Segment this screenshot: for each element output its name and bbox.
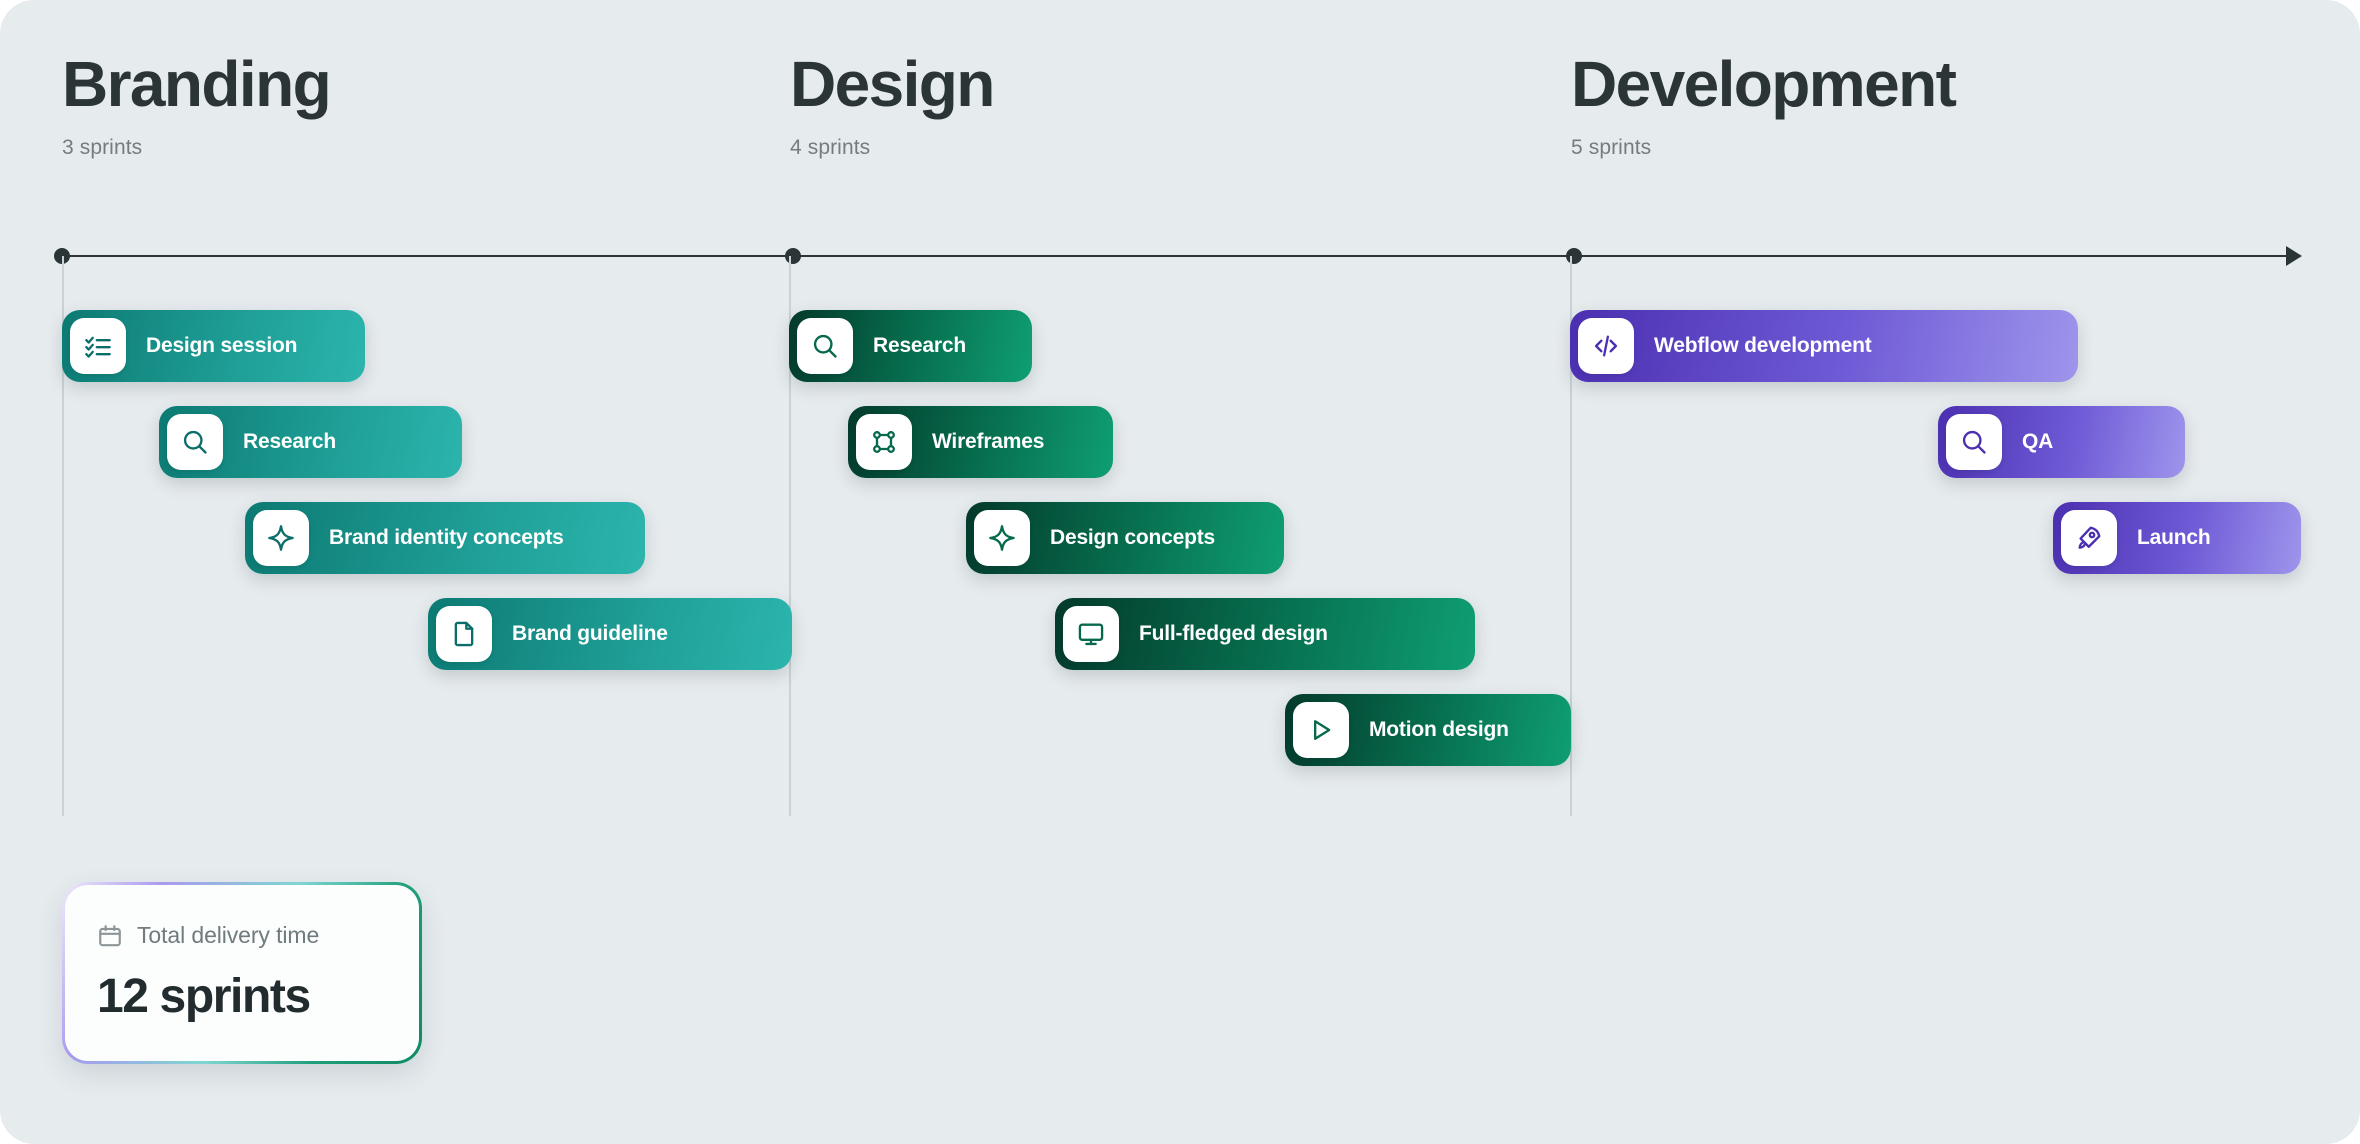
monitor-icon [1063,606,1119,662]
sparkle-icon [253,510,309,566]
rocket-icon [2061,510,2117,566]
timeline-canvas: Branding 3 sprints Design 4 sprints Deve… [0,0,2360,1144]
total-delivery-label: Total delivery time [137,922,319,949]
task-label: Motion design [1369,718,1509,742]
task-label: Brand guideline [512,622,668,646]
task-bar-full-fledged-design[interactable]: Full-fledged design [1055,598,1475,670]
task-label: Webflow development [1654,334,1872,358]
total-delivery-header: Total delivery time [97,922,387,949]
task-label: Research [243,430,336,454]
task-label: Research [873,334,966,358]
timeline-arrow-icon [2286,246,2302,266]
task-bar-branding-research[interactable]: Research [159,406,462,478]
phase-title-branding: Branding [62,52,330,116]
task-bar-design-session[interactable]: Design session [62,310,365,382]
task-bar-qa[interactable]: QA [1938,406,2185,478]
wireframe-icon [856,414,912,470]
task-bar-design-research[interactable]: Research [789,310,1032,382]
task-label: Design concepts [1050,526,1215,550]
document-icon [436,606,492,662]
sparkle-icon [974,510,1030,566]
phase-header-development: Development 5 sprints [1571,52,1955,160]
task-bar-design-concepts[interactable]: Design concepts [966,502,1284,574]
task-bar-webflow-development[interactable]: Webflow development [1570,310,2078,382]
play-icon [1293,702,1349,758]
calendar-icon [97,923,123,949]
code-icon [1578,318,1634,374]
task-label: Design session [146,334,297,358]
task-bar-brand-guideline[interactable]: Brand guideline [428,598,792,670]
total-delivery-card-inner: Total delivery time 12 sprints [65,885,419,1061]
task-bar-launch[interactable]: Launch [2053,502,2301,574]
timeline-axis [60,255,2300,257]
task-bar-wireframes[interactable]: Wireframes [848,406,1113,478]
search-icon [1946,414,2002,470]
task-label: QA [2022,430,2053,454]
phase-sprints-branding: 3 sprints [62,136,330,160]
timeline-marker-design [785,248,801,264]
task-label: Full-fledged design [1139,622,1328,646]
phase-title-design: Design [790,52,994,116]
task-label: Launch [2137,526,2210,550]
phase-header-design: Design 4 sprints [790,52,994,160]
total-delivery-card: Total delivery time 12 sprints [62,882,422,1064]
total-delivery-value: 12 sprints [97,969,387,1024]
task-label: Wireframes [932,430,1044,454]
task-label: Brand identity concepts [329,526,564,550]
task-bar-brand-identity-concepts[interactable]: Brand identity concepts [245,502,645,574]
search-icon [797,318,853,374]
checklist-icon [70,318,126,374]
task-bar-motion-design[interactable]: Motion design [1285,694,1571,766]
phase-sprints-design: 4 sprints [790,136,994,160]
timeline-marker-development [1566,248,1582,264]
search-icon [167,414,223,470]
phase-title-development: Development [1571,52,1955,116]
phase-sprints-development: 5 sprints [1571,136,1955,160]
phase-header-branding: Branding 3 sprints [62,52,330,160]
